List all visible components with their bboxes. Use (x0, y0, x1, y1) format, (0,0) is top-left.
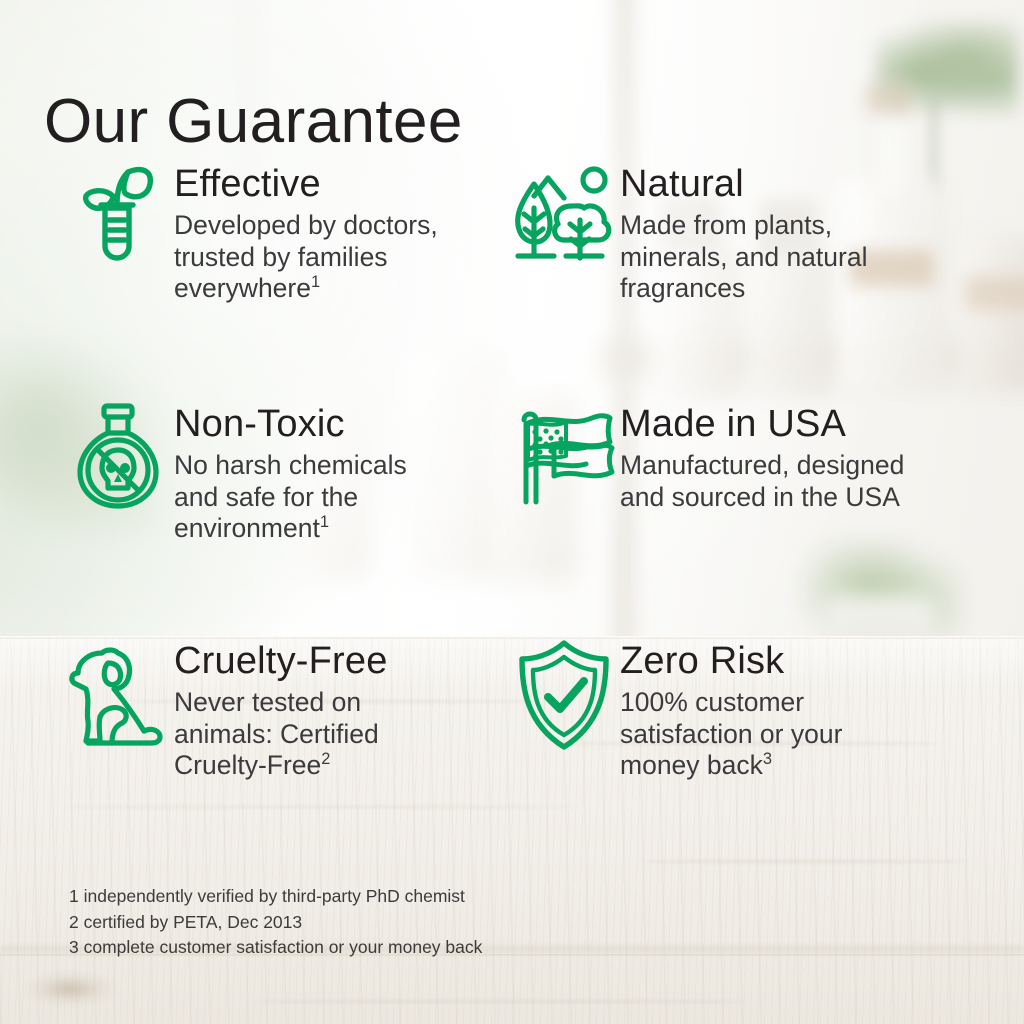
desc-line: money back (620, 750, 763, 780)
desc-line: No harsh chemicals (174, 450, 407, 480)
desc-line: Developed by doctors, (174, 210, 438, 240)
feature-item-zero-risk: Zero Risk 100% customer satisfaction or … (508, 639, 1008, 781)
feature-item-natural: Natural Made from plants, minerals, and … (508, 162, 1008, 304)
feature-item-cruelty-free: Cruelty-Free Never tested on animals: Ce… (62, 639, 522, 781)
desc-line: trusted by families (174, 242, 388, 272)
desc-line: 100% customer (620, 687, 804, 717)
feature-title: Non-Toxic (174, 404, 522, 444)
desc-line: environment (174, 513, 320, 543)
page-title: Our Guarantee (44, 91, 463, 153)
trees-mountain-sun-icon (508, 162, 620, 278)
feature-text: Zero Risk 100% customer satisfaction or … (620, 639, 1008, 781)
desc-line: satisfaction or your (620, 719, 842, 749)
feature-description: Made from plants, minerals, and natural … (620, 210, 1008, 304)
desc-line: and safe for the (174, 482, 358, 512)
footnote-marker: 1 (311, 273, 320, 291)
footnote-line: 3 complete customer satisfaction or your… (69, 935, 482, 961)
feature-title: Made in USA (620, 404, 1008, 444)
feature-description: Never tested on animals: Certified Cruel… (174, 687, 522, 781)
feature-text: Non-Toxic No harsh chemicals and safe fo… (174, 402, 522, 544)
feature-item-made-in-usa: Made in USA Manufactured, designed and s… (508, 402, 1008, 518)
feature-text: Cruelty-Free Never tested on animals: Ce… (174, 639, 522, 781)
desc-line: Manufactured, designed (620, 450, 904, 480)
test-tube-plant-icon (62, 162, 174, 278)
desc-line: Cruelty-Free (174, 750, 321, 780)
footnote-marker: 2 (321, 750, 330, 768)
desc-line: animals: Certified (174, 719, 379, 749)
desc-line: Made from plants, (620, 210, 832, 240)
feature-text: Made in USA Manufactured, designed and s… (620, 402, 1008, 513)
usa-flag-icon (508, 402, 620, 518)
footnote-marker: 1 (320, 513, 329, 531)
footnote-marker: 3 (763, 750, 772, 768)
feature-description: Developed by doctors, trusted by familie… (174, 210, 522, 304)
feature-item-non-toxic: Non-Toxic No harsh chemicals and safe fo… (62, 402, 522, 544)
feature-description: 100% customer satisfaction or your money… (620, 687, 1008, 781)
footnote-line: 1 independently verified by third-party … (69, 884, 482, 910)
desc-line: fragrances (620, 273, 745, 303)
desc-line: everywhere (174, 273, 311, 303)
feature-title: Natural (620, 164, 1008, 204)
feature-title: Effective (174, 164, 522, 204)
feature-text: Effective Developed by doctors, trusted … (174, 162, 522, 304)
desc-line: minerals, and natural (620, 242, 867, 272)
poison-bottle-skull-prohibited-icon (62, 402, 174, 518)
shield-check-icon (508, 639, 620, 755)
feature-item-effective: Effective Developed by doctors, trusted … (62, 162, 522, 304)
feature-text: Natural Made from plants, minerals, and … (620, 162, 1008, 304)
footnote-line: 2 certified by PETA, Dec 2013 (69, 910, 482, 936)
feature-title: Cruelty-Free (174, 641, 522, 681)
desc-line: Never tested on (174, 687, 361, 717)
sitting-dog-icon (62, 639, 174, 755)
content-layer: Our Guarantee Effective (0, 0, 1024, 1024)
feature-title: Zero Risk (620, 641, 1008, 681)
feature-description: No harsh chemicals and safe for the envi… (174, 450, 522, 544)
footnotes-block: 1 independently verified by third-party … (69, 884, 482, 961)
guarantee-infographic: Our Guarantee Effective (0, 0, 1024, 1024)
feature-description: Manufactured, designed and sourced in th… (620, 450, 1008, 513)
desc-line: and sourced in the USA (620, 482, 900, 512)
